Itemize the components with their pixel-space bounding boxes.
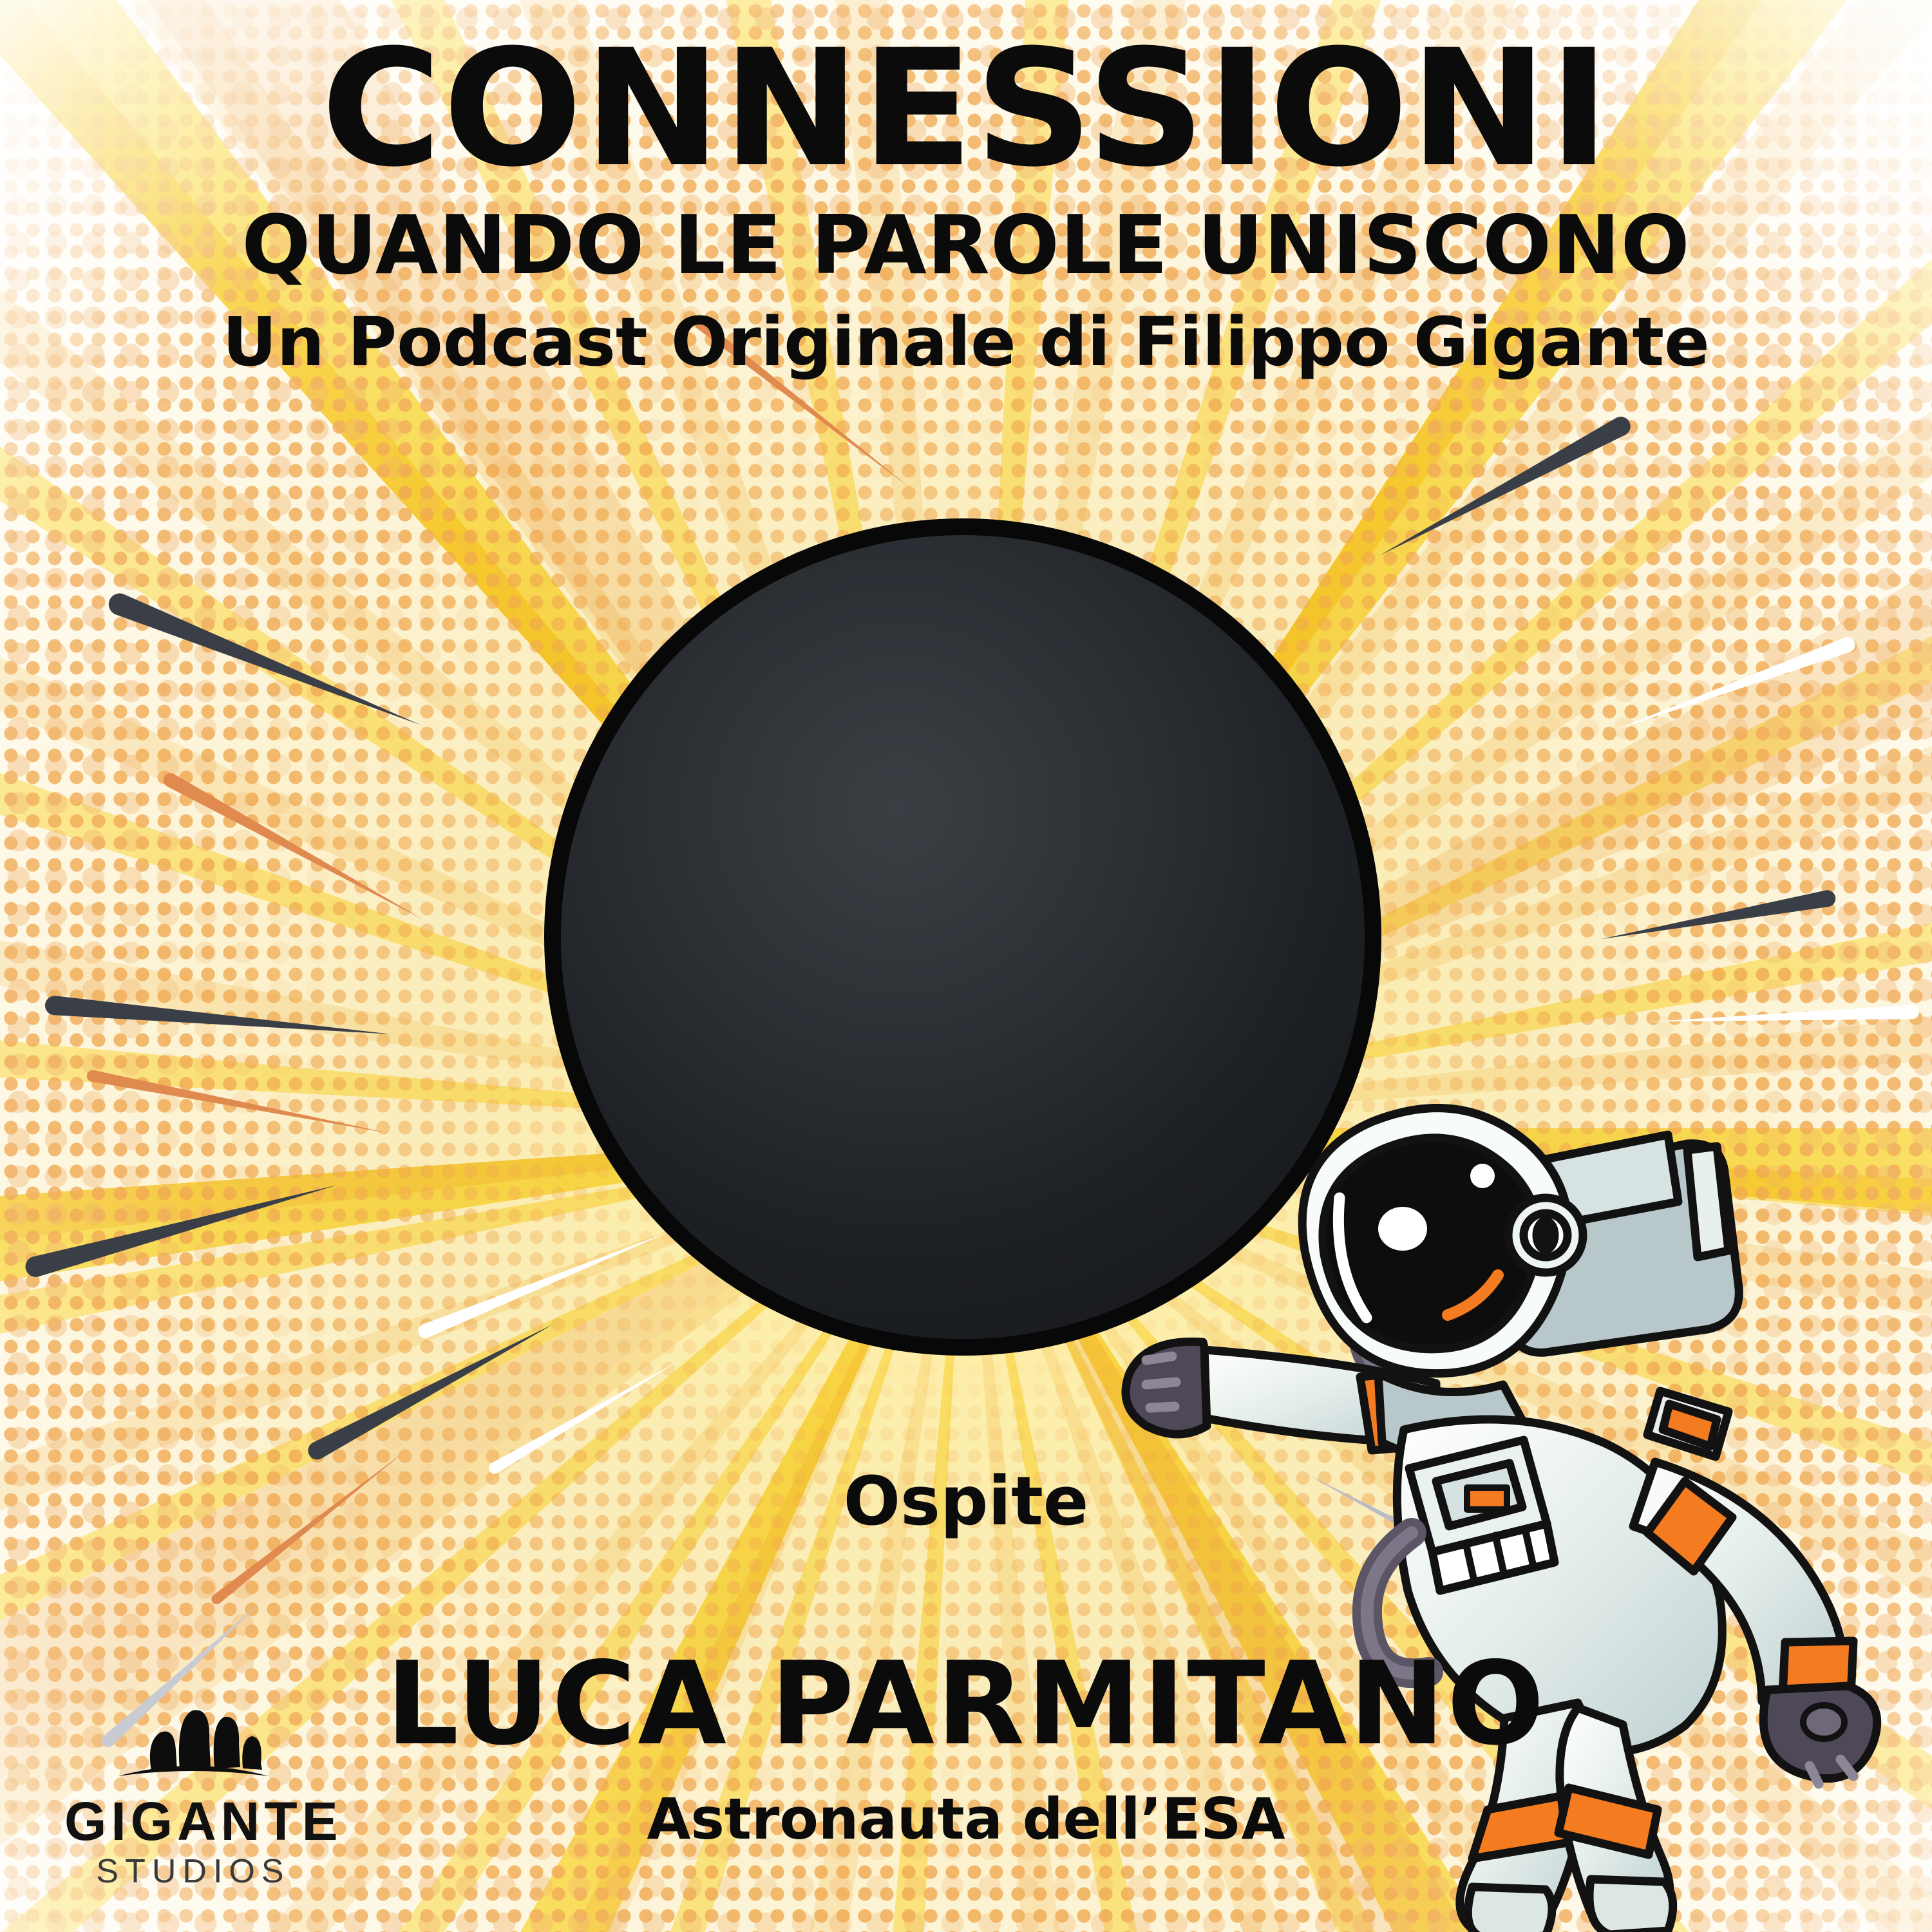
guest-label: Ospite — [0, 1462, 1932, 1540]
visor-highlight-big — [1378, 1207, 1427, 1251]
gigante-studios-logo: GIGANTE STUDIOS — [64, 1700, 322, 1888]
logo-wordmark: GIGANTE — [64, 1794, 322, 1848]
header-text-block: CONNESSIONI QUANDO LE PAROLE UNISCONO Un… — [0, 30, 1932, 377]
gigante-rocks-icon — [113, 1700, 274, 1790]
logo-subtitle: STUDIOS — [64, 1855, 322, 1888]
visor-highlight-small — [1470, 1164, 1495, 1188]
page-title: CONNESSIONI — [0, 30, 1932, 187]
podcast-cover: CONNESSIONI QUANDO LE PAROLE UNISCONO Un… — [0, 0, 1932, 1932]
page-byline: Un Podcast Originale di Filippo Gigante — [0, 307, 1932, 377]
page-subtitle: QUANDO LE PAROLE UNISCONO — [0, 203, 1932, 288]
